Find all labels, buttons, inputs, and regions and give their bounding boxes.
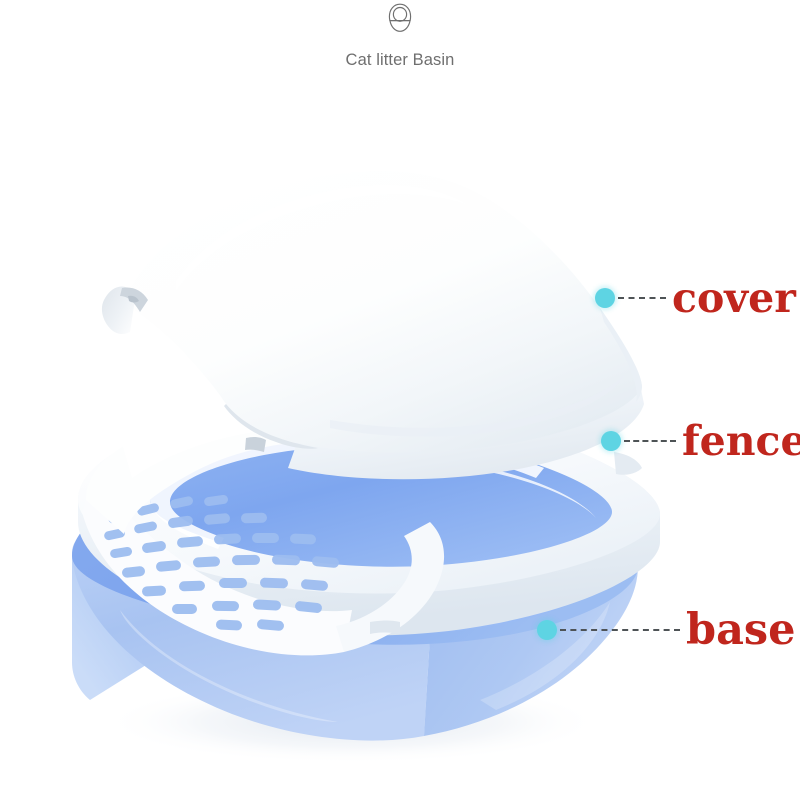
callout-dot-cover[interactable] <box>595 288 615 308</box>
callout-dot-base[interactable] <box>537 620 557 640</box>
callout-base[interactable]: base <box>537 615 796 645</box>
callout-leader-line-cover <box>618 297 666 299</box>
callout-label-fence: fence <box>682 421 800 462</box>
callout-fence[interactable]: fence <box>601 426 800 456</box>
callout-leader-line-base <box>560 629 680 631</box>
callout-dot-fence[interactable] <box>601 431 621 451</box>
callout-leader-line-fence <box>624 440 676 442</box>
callout-label-cover: cover <box>672 278 796 319</box>
callout-label-base: base <box>686 609 796 652</box>
callout-cover[interactable]: cover <box>595 283 796 313</box>
product-illustration <box>0 0 800 800</box>
